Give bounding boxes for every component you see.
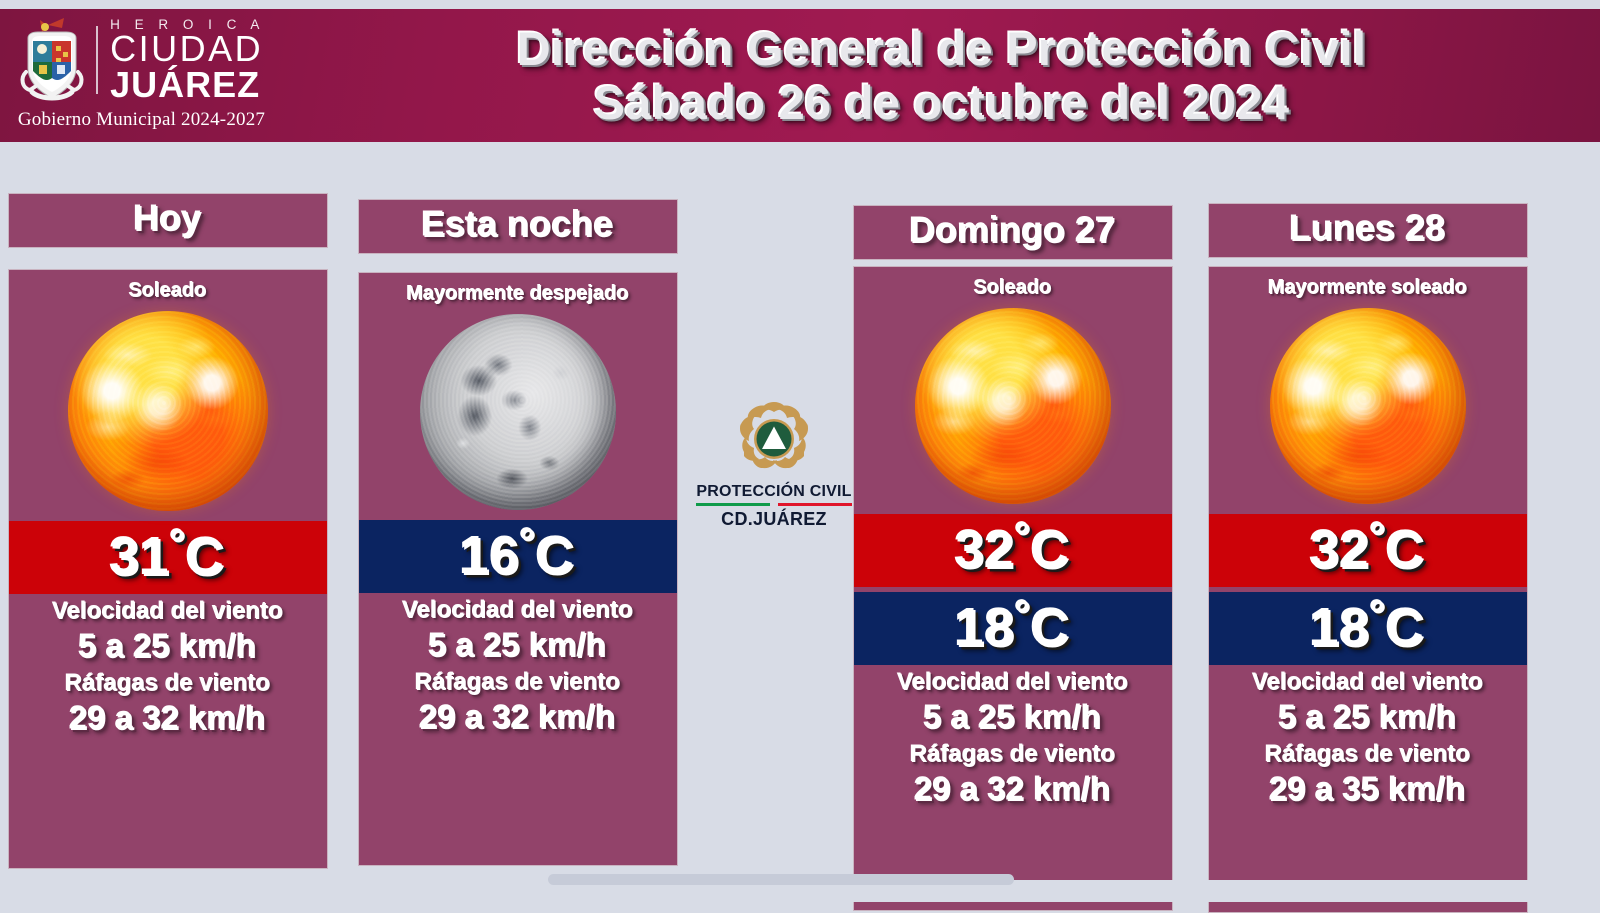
forecast-card: Esta nocheMayormente despejado16°CVeloci… [358,199,678,866]
moon-icon [420,314,616,510]
juarez-label: JUÁREZ [110,67,260,102]
wind-gust-label: Ráfagas de viento [854,741,1172,769]
rule-gap [770,503,778,506]
weather-condition-label: Soleado [854,277,1172,300]
wind-speed-value: 5 a 25 km/h [359,626,677,666]
proteccion-civil-name: PROTECCIÓN CIVIL [696,483,851,501]
wind-gust-value: 29 a 35 km/h [1209,770,1527,810]
wind-gust-label: Ráfagas de viento [359,669,677,697]
juarez-coat-of-arms-icon [18,16,86,104]
city-logo-block: H E R O I C A CIUDAD JUÁREZ Gobierno Mun… [0,9,283,142]
forecast-card-title: Domingo 27 [853,205,1173,260]
forecast-card-title: Lunes 28 [1208,203,1528,258]
forecast-card-body: Mayormente despejado16°CVelocidad del vi… [358,272,678,866]
wind-speed-label: Velocidad del viento [359,597,677,625]
rule-red [778,503,852,506]
weather-icon-wrap [359,310,677,514]
degree-symbol: ° [1016,594,1032,638]
horizontal-scrollbar-thumb[interactable] [548,874,1014,885]
sun-icon [68,311,268,511]
wind-speed-label: Velocidad del viento [854,669,1172,697]
city-name: H E R O I C A CIUDAD JUÁREZ [110,18,265,102]
rule-green [696,503,770,506]
title-line-2: Sábado 26 de octubre del 2024 [594,76,1290,130]
weather-condition-label: Soleado [9,280,327,303]
temperature-value: 16 [460,527,520,587]
temperature-unit: C [1032,599,1071,659]
degree-symbol: ° [521,522,537,566]
proteccion-civil-logo: PROTECCIÓN CIVIL CD.JUÁREZ [694,398,854,530]
wind-gust-label: Ráfagas de viento [9,670,327,698]
high-temperature-bar: 32°C [854,514,1172,587]
forecast-card-body: Soleado31°CVelocidad del viento5 a 25 km… [8,269,328,869]
low-temperature-bar: 16°C [359,520,677,593]
proteccion-civil-city: CD.JUÁREZ [721,509,827,530]
forecast-card-title: Esta noche [358,199,678,254]
weather-icon-wrap [1209,304,1527,508]
temperature-value: 31 [110,528,170,588]
wind-speed-value: 5 a 25 km/h [1209,698,1527,738]
degree-symbol: ° [171,523,187,567]
sun-icon [915,308,1111,504]
wind-speed-label: Velocidad del viento [9,598,327,626]
low-temperature-bar: 18°C [1209,592,1527,665]
low-temperature-bar: 18°C [854,592,1172,665]
flag-rule [696,503,852,506]
ciudad-label: CIUDAD [110,32,263,67]
temperature-unit: C [1387,521,1426,581]
wind-gust-value: 29 a 32 km/h [359,698,677,738]
forecast-card: HoySoleado31°CVelocidad del viento5 a 25… [8,193,328,869]
page-header: H E R O I C A CIUDAD JUÁREZ Gobierno Mun… [0,9,1600,142]
forecast-card-body: Soleado32°C18°CVelocidad del viento5 a 2… [853,266,1173,911]
proteccion-civil-emblem-icon [733,398,815,480]
degree-symbol: ° [1016,516,1032,560]
temperature-unit: C [1032,521,1071,581]
weather-icon-wrap [9,307,327,515]
high-temperature-bar: 31°C [9,521,327,594]
weather-condition-label: Mayormente soleado [1209,277,1527,300]
wind-speed-value: 5 a 25 km/h [854,698,1172,738]
temperature-value: 32 [1310,521,1370,581]
wind-speed-label: Velocidad del viento [1209,669,1527,697]
temperature-unit: C [537,527,576,587]
header-top-strip [0,0,1600,9]
page-title: Dirección General de Protección Civil Sá… [283,9,1600,142]
degree-symbol: ° [1371,516,1387,560]
temperature-value: 18 [1310,599,1370,659]
temperature-value: 32 [955,521,1015,581]
sun-icon [1270,308,1466,504]
wind-speed-value: 5 a 25 km/h [9,627,327,667]
temperature-value: 18 [955,599,1015,659]
gobierno-municipal-label: Gobierno Municipal 2024-2027 [18,109,265,131]
degree-symbol: ° [1371,594,1387,638]
high-temperature-bar: 32°C [1209,514,1527,587]
weather-condition-label: Mayormente despejado [359,283,677,306]
forecast-card: Lunes 28Mayormente soleado32°C18°CVeloci… [1208,203,1528,913]
forecast-card: Domingo 27Soleado32°C18°CVelocidad del v… [853,205,1173,911]
temperature-unit: C [1387,599,1426,659]
forecast-card-title: Hoy [8,193,328,248]
wind-gust-value: 29 a 32 km/h [854,770,1172,810]
forecast-card-body: Mayormente soleado32°C18°CVelocidad del … [1208,266,1528,913]
wind-gust-label: Ráfagas de viento [1209,741,1527,769]
temperature-unit: C [187,528,226,588]
wind-gust-value: 29 a 32 km/h [9,699,327,739]
title-line-1: Dirección General de Protección Civil [517,22,1367,76]
logo-divider [96,26,98,94]
weather-icon-wrap [854,304,1172,508]
